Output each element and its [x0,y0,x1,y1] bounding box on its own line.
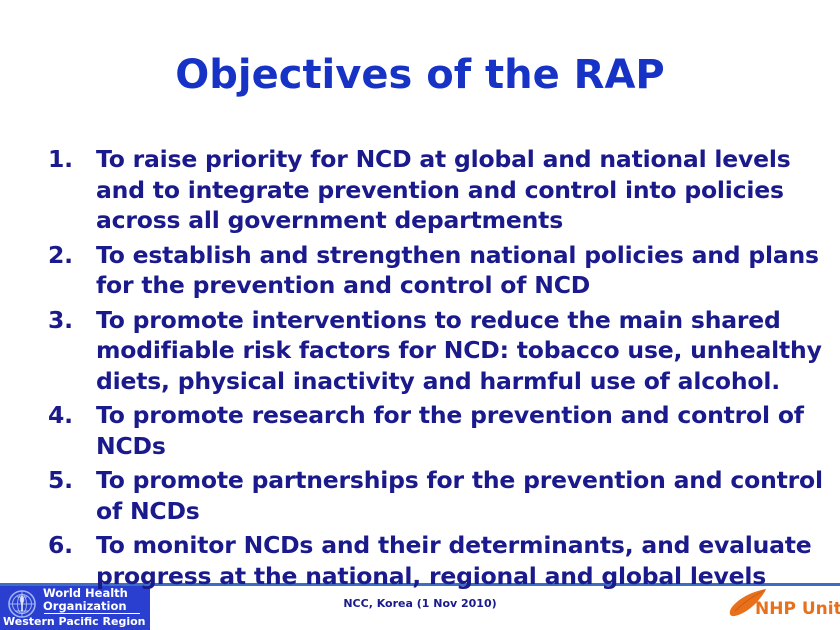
list-item-text: To promote partnerships for the preventi… [96,465,824,526]
list-item: 1. To raise priority for NCD at global a… [44,144,824,236]
footer-event-label: NCC, Korea (1 Nov 2010) [0,597,840,610]
list-item-number: 6. [48,530,88,561]
who-region-label: Western Pacific Region [3,615,146,628]
list-item-number: 1. [48,144,88,175]
presentation-slide: Objectives of the RAP 1. To raise priori… [0,0,840,630]
list-item-text: To promote interventions to reduce the m… [96,305,824,397]
list-item-text: To raise priority for NCD at global and … [96,144,824,236]
list-item-number: 4. [48,400,88,431]
list-item-text: To monitor NCDs and their determinants, … [96,530,824,591]
list-item-text: To establish and strengthen national pol… [96,240,824,301]
list-item: 5. To promote partnerships for the preve… [44,465,824,526]
list-item: 6. To monitor NCDs and their determinant… [44,530,824,591]
list-item: 3. To promote interventions to reduce th… [44,305,824,397]
list-item: 2. To establish and strengthen national … [44,240,824,301]
objectives-list: 1. To raise priority for NCD at global a… [44,144,824,595]
who-name-underline [44,613,140,614]
list-item-text: To promote research for the prevention a… [96,400,824,461]
nhp-unit-label: NHP Unit [755,599,840,619]
page-title: Objectives of the RAP [0,52,840,98]
list-item-number: 2. [48,240,88,271]
list-item-number: 5. [48,465,88,496]
list-item-number: 3. [48,305,88,336]
list-item: 4. To promote research for the preventio… [44,400,824,461]
